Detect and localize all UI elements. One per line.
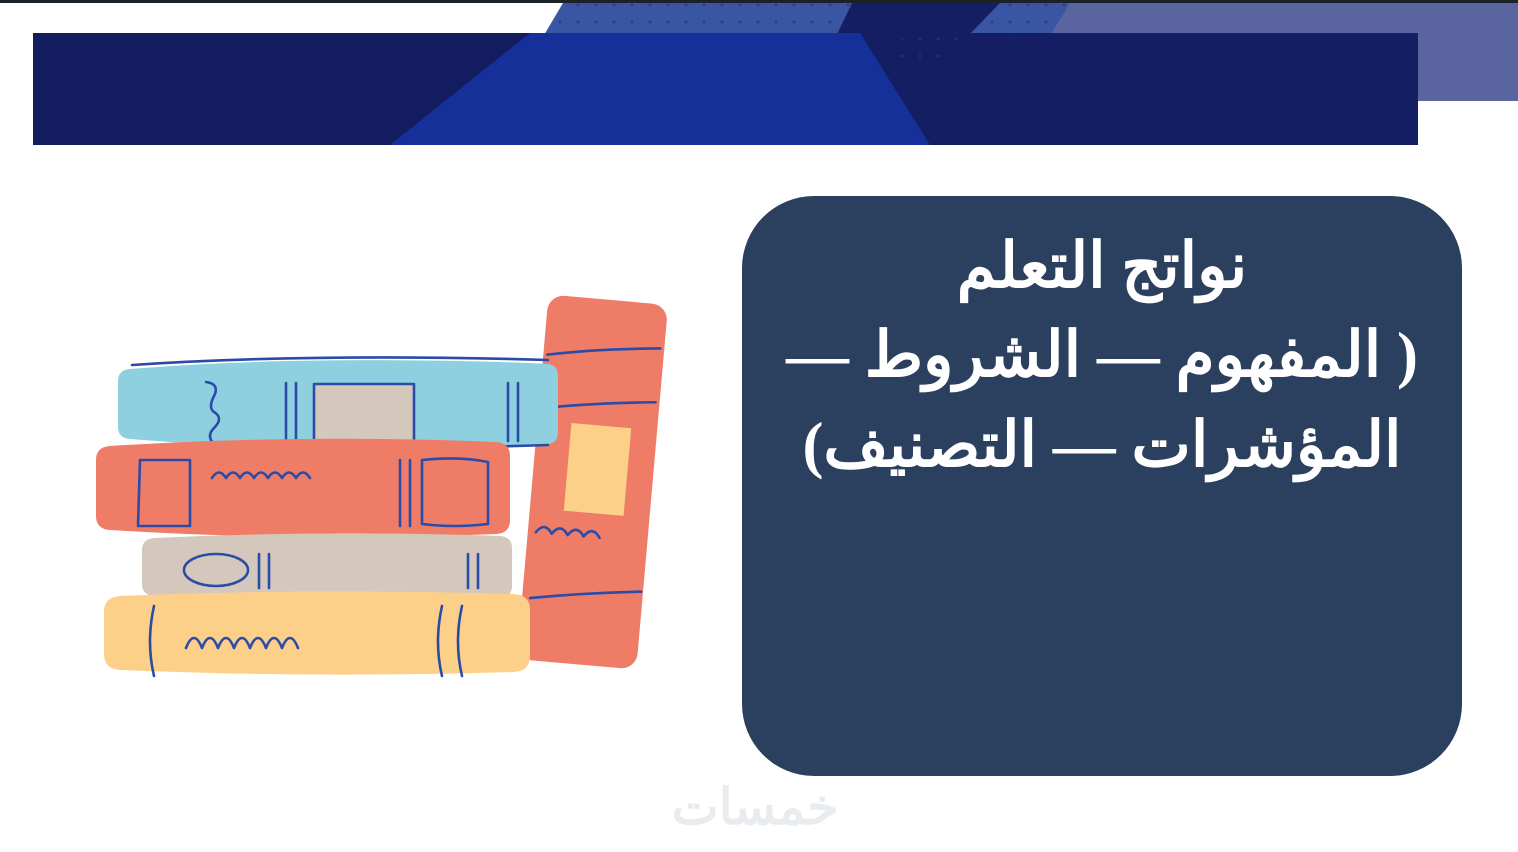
beige-book: [142, 533, 512, 600]
light-blue-book: [118, 357, 558, 447]
page-title: نواتج التعلم ( المفهوم — الشروط — المؤشر…: [776, 222, 1428, 490]
stack-of-books-illustration: [96, 288, 716, 688]
coral-book: [96, 439, 510, 537]
upright-coral-book: [517, 295, 668, 670]
watermark-khamsat: خمسات: [645, 782, 865, 832]
navy-chevron-right: [1010, 33, 1418, 145]
yellow-book: [104, 591, 530, 676]
decorative-header-banner: [0, 3, 1518, 153]
slide-canvas: نواتج التعلم ( المفهوم — الشروط — المؤشر…: [0, 0, 1518, 852]
title-card: نواتج التعلم ( المفهوم — الشروط — المؤشر…: [742, 196, 1462, 776]
